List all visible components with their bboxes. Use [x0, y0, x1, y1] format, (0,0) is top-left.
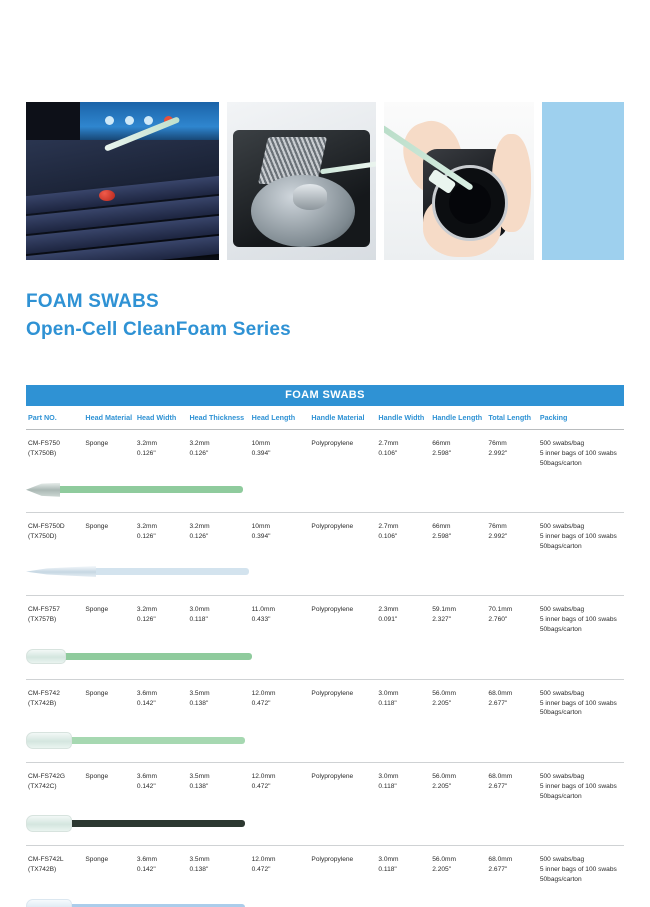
cell-handle-length: 56.0mm2.205" [430, 845, 486, 884]
swab-head [26, 732, 72, 749]
cell-handle-width: 2.7mm0.106" [376, 513, 430, 552]
cell-head-width: 3.2mm0.126" [135, 596, 188, 635]
page-title-block: FOAM SWABS Open-Cell CleanFoam Series [26, 288, 624, 343]
cell-head-width: 3.6mm0.142" [135, 845, 188, 884]
cell-head-thickness: 3.5mm0.138" [187, 679, 249, 718]
cell-total-length: 76mm2.992" [486, 513, 537, 552]
cell-handle-length: 59.1mm2.327" [430, 596, 486, 635]
cell-head-thickness: 3.2mm0.126" [187, 513, 249, 552]
cell-head-length: 12.0mm0.472" [250, 845, 310, 884]
column-header-handle-length: Handle Length [430, 406, 486, 430]
swab-shaft [94, 568, 249, 575]
cell-handle-material: Polypropylene [309, 762, 376, 801]
page-subtitle: Open-Cell CleanFoam Series [26, 316, 624, 344]
column-header-total-length: Total Length [486, 406, 537, 430]
cell-handle-material: Polypropylene [309, 430, 376, 469]
table-row: CM-FS750D(TX750D)Sponge3.2mm0.126"3.2mm0… [26, 513, 624, 552]
column-header-part-no: Part NO. [26, 406, 83, 430]
cell-handle-material: Polypropylene [309, 679, 376, 718]
table-row: CM-FS757(TX757B)Sponge3.2mm0.126"3.0mm0.… [26, 596, 624, 635]
cell-packing: 500 swabs/bag5 inner bags of 100 swabs50… [538, 430, 624, 469]
table-row: CM-FS750(TX750B)Sponge3.2mm0.126"3.2mm0.… [26, 430, 624, 469]
cell-head-material: Sponge [83, 762, 134, 801]
swab-illustration-row [26, 469, 624, 513]
column-header-packing: Packing [538, 406, 624, 430]
cell-head-width: 3.6mm0.142" [135, 762, 188, 801]
cell-total-length: 68.0mm2.677" [486, 679, 537, 718]
cell-total-length: 68.0mm2.677" [486, 845, 537, 884]
cell-packing: 500 swabs/bag5 inner bags of 100 swabs50… [538, 679, 624, 718]
cell-part-no: CM-FS757(TX757B) [26, 596, 83, 635]
cell-part-no: CM-FS742(TX742B) [26, 679, 83, 718]
column-header-head-material: Head Material [83, 406, 134, 430]
cell-handle-material: Polypropylene [309, 596, 376, 635]
cell-part-no: CM-FS742L(TX742B) [26, 845, 83, 884]
cell-packing: 500 swabs/bag5 inner bags of 100 swabs50… [538, 596, 624, 635]
photo-laptop-keyboard-cleaning [26, 102, 219, 260]
photo-camera-lens-cleaning [384, 102, 534, 260]
swab-head [26, 649, 66, 664]
cell-handle-length: 66mm2.598" [430, 430, 486, 469]
cell-handle-width: 2.3mm0.091" [376, 596, 430, 635]
cell-head-material: Sponge [83, 513, 134, 552]
cell-part-no: CM-FS742G(TX742C) [26, 762, 83, 801]
table-row: CM-FS742L(TX742B)Sponge3.6mm0.142"3.5mm0… [26, 845, 624, 884]
table-banner-title: FOAM SWABS [26, 385, 624, 406]
swab-illustration-row [26, 635, 624, 679]
swab-illustration-cm-fs742l [26, 899, 245, 907]
column-header-head-width: Head Width [135, 406, 188, 430]
cell-head-width: 3.2mm0.126" [135, 430, 188, 469]
column-header-head-thickness: Head Thickness [187, 406, 249, 430]
table-row: CM-FS742G(TX742C)Sponge3.6mm0.142"3.5mm0… [26, 762, 624, 801]
swab-shaft [70, 737, 245, 744]
swab-head [26, 899, 72, 907]
swab-illustration-row [26, 801, 624, 845]
cell-handle-width: 3.0mm0.118" [376, 762, 430, 801]
swab-shaft [64, 653, 252, 660]
swab-illustration-cm-fs750 [26, 483, 243, 497]
table-row: CM-FS742(TX742B)Sponge3.6mm0.142"3.5mm0.… [26, 679, 624, 718]
cell-head-width: 3.2mm0.126" [135, 513, 188, 552]
column-header-handle-width: Handle Width [376, 406, 430, 430]
cell-head-material: Sponge [83, 845, 134, 884]
swab-illustration-cm-fs742 [26, 732, 245, 749]
page-title: FOAM SWABS [26, 288, 624, 316]
cell-head-width: 3.6mm0.142" [135, 679, 188, 718]
catalog-page: FOAM SWABS Open-Cell CleanFoam Series FO… [0, 102, 650, 907]
cell-part-no: CM-FS750(TX750B) [26, 430, 83, 469]
cell-head-length: 10mm0.394" [250, 430, 310, 469]
cell-packing: 500 swabs/bag5 inner bags of 100 swabs50… [538, 845, 624, 884]
cell-handle-width: 2.7mm0.106" [376, 430, 430, 469]
cell-handle-width: 3.0mm0.118" [376, 845, 430, 884]
cell-total-length: 76mm2.992" [486, 430, 537, 469]
cell-total-length: 70.1mm2.760" [486, 596, 537, 635]
foam-swabs-spec-table: Part NO. Head Material Head Width Head T… [26, 406, 624, 907]
product-photo-strip [26, 102, 624, 260]
cell-head-material: Sponge [83, 596, 134, 635]
cell-packing: 500 swabs/bag5 inner bags of 100 swabs50… [538, 762, 624, 801]
swab-illustration-cm-fs742g [26, 815, 245, 832]
cell-total-length: 68.0mm2.677" [486, 762, 537, 801]
cell-handle-length: 66mm2.598" [430, 513, 486, 552]
column-header-handle-material: Handle Material [309, 406, 376, 430]
cell-head-length: 12.0mm0.472" [250, 679, 310, 718]
cell-head-length: 10mm0.394" [250, 513, 310, 552]
cell-head-length: 12.0mm0.472" [250, 762, 310, 801]
photo-hard-drive-cleaning [227, 102, 375, 260]
cell-head-thickness: 3.0mm0.118" [187, 596, 249, 635]
swab-head [26, 566, 96, 577]
spec-table-wrapper: FOAM SWABS Part NO. Head Material Head W… [26, 385, 624, 907]
table-body: CM-FS750(TX750B)Sponge3.2mm0.126"3.2mm0.… [26, 430, 624, 907]
swab-illustration-cm-fs750d [26, 566, 249, 577]
swab-shaft [70, 820, 245, 827]
swab-shaft [70, 904, 245, 907]
photo-blue-color-block [542, 102, 624, 260]
table-header-row: Part NO. Head Material Head Width Head T… [26, 406, 624, 430]
cell-packing: 500 swabs/bag5 inner bags of 100 swabs50… [538, 513, 624, 552]
swab-illustration-row [26, 718, 624, 762]
cell-head-thickness: 3.2mm0.126" [187, 430, 249, 469]
cell-head-material: Sponge [83, 430, 134, 469]
cell-handle-width: 3.0mm0.118" [376, 679, 430, 718]
cell-handle-length: 56.0mm2.205" [430, 762, 486, 801]
column-header-head-length: Head Length [250, 406, 310, 430]
cell-head-thickness: 3.5mm0.138" [187, 762, 249, 801]
swab-illustration-cm-fs757 [26, 649, 252, 664]
swab-head [26, 483, 60, 497]
cell-head-thickness: 3.5mm0.138" [187, 845, 249, 884]
cell-part-no: CM-FS750D(TX750D) [26, 513, 83, 552]
swab-illustration-row [26, 552, 624, 596]
swab-shaft [58, 486, 243, 493]
swab-illustration-row [26, 885, 624, 907]
swab-head [26, 815, 72, 832]
cell-handle-material: Polypropylene [309, 513, 376, 552]
cell-head-length: 11.0mm0.433" [250, 596, 310, 635]
cell-handle-material: Polypropylene [309, 845, 376, 884]
cell-head-material: Sponge [83, 679, 134, 718]
cell-handle-length: 56.0mm2.205" [430, 679, 486, 718]
